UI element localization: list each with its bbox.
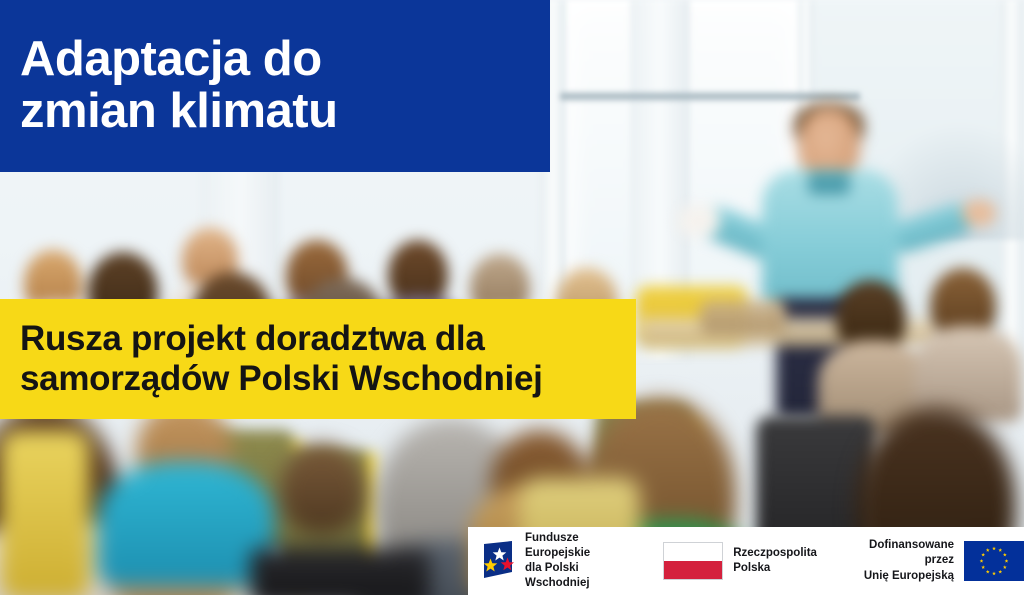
- presenter-left-hand: [678, 206, 720, 236]
- headline-banner: Adaptacja do zmian klimatu: [0, 0, 550, 172]
- rp-label-line1: Rzeczpospolita: [733, 547, 817, 559]
- fe-label-line1: Fundusze Europejskie: [525, 532, 590, 559]
- audience-body-teal: [98, 462, 274, 586]
- fe-label-line2: dla Polski Wschodniej: [525, 562, 590, 589]
- ue-label-line1: Dofinansowane przez: [869, 539, 954, 566]
- ue-label-line2: Unię Europejską: [864, 570, 954, 582]
- fundusze-europejskie-label: Fundusze Europejskiedla Polski Wschodnie…: [525, 531, 627, 592]
- window-rail-1: [560, 92, 860, 101]
- headline-text: Adaptacja do zmian klimatu: [0, 34, 338, 138]
- logo-dofinansowane-ue: Dofinansowane przezUnię Europejską: [859, 538, 1024, 584]
- notebook: [250, 548, 430, 595]
- rp-label-line2: Polska: [733, 562, 770, 574]
- logo-rzeczpospolita-polska: RzeczpospolitaPolska: [663, 542, 817, 580]
- eu-flag-icon: [964, 541, 1024, 581]
- rzeczpospolita-label: RzeczpospolitaPolska: [733, 546, 817, 576]
- flag-white-stripe: [664, 543, 722, 561]
- logo-fundusze-europejskie: Fundusze Europejskiedla Polski Wschodnie…: [482, 531, 627, 592]
- subhead-text: Rusza projekt doradztwa dla samorządów P…: [0, 319, 543, 400]
- bag-on-table: [700, 300, 786, 334]
- polish-flag-icon: [663, 542, 723, 580]
- flag-red-stripe: [664, 561, 722, 579]
- poster-canvas: Adaptacja do zmian klimatu Rusza projekt…: [0, 0, 1024, 595]
- presenter-right-hand: [962, 200, 996, 226]
- presenter-collar: [808, 170, 850, 194]
- subhead-banner: Rusza projekt doradztwa dla samorządów P…: [0, 299, 636, 419]
- fundusze-europejskie-flag-icon: [482, 541, 516, 581]
- audience-head: [280, 444, 364, 534]
- logo-bar: Fundusze Europejskiedla Polski Wschodnie…: [468, 527, 1024, 595]
- audience-yellow-stripes: [0, 430, 90, 595]
- dofinansowane-label: Dofinansowane przezUnię Europejską: [859, 538, 954, 584]
